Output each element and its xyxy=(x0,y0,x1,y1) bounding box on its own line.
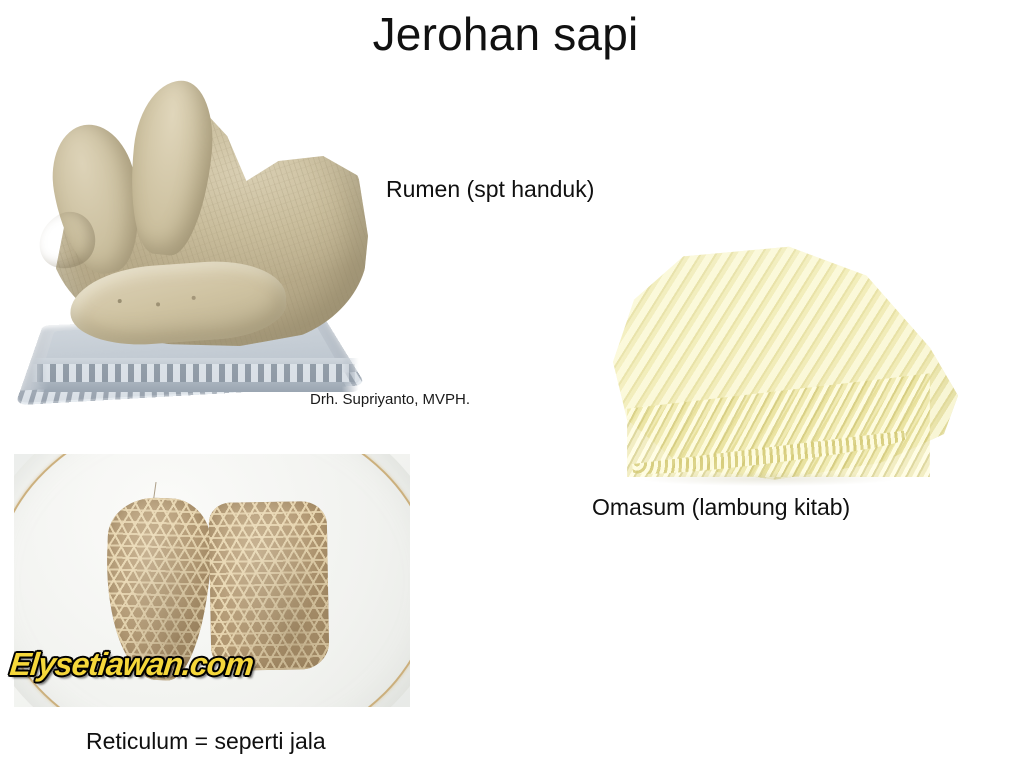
author-credit: Drh. Supriyanto, MVPH. xyxy=(310,391,470,408)
styrofoam-tray-rim xyxy=(24,358,362,392)
reticulum-caption: Reticulum = seperti jala xyxy=(86,728,326,756)
omasum-caption: Omasum (lambung kitab) xyxy=(592,494,850,522)
omasum-photo xyxy=(606,242,958,482)
page-title: Jerohan sapi xyxy=(0,8,1011,61)
slide-canvas: Jerohan sapi Rumen (spt handuk) Drh. Sup… xyxy=(0,0,1011,772)
rumen-caption: Rumen (spt handuk) xyxy=(386,176,594,204)
omasum-shadow xyxy=(641,472,894,486)
rumen-photo xyxy=(14,66,386,418)
watermark-text: Elysetiawan.com xyxy=(8,646,255,683)
